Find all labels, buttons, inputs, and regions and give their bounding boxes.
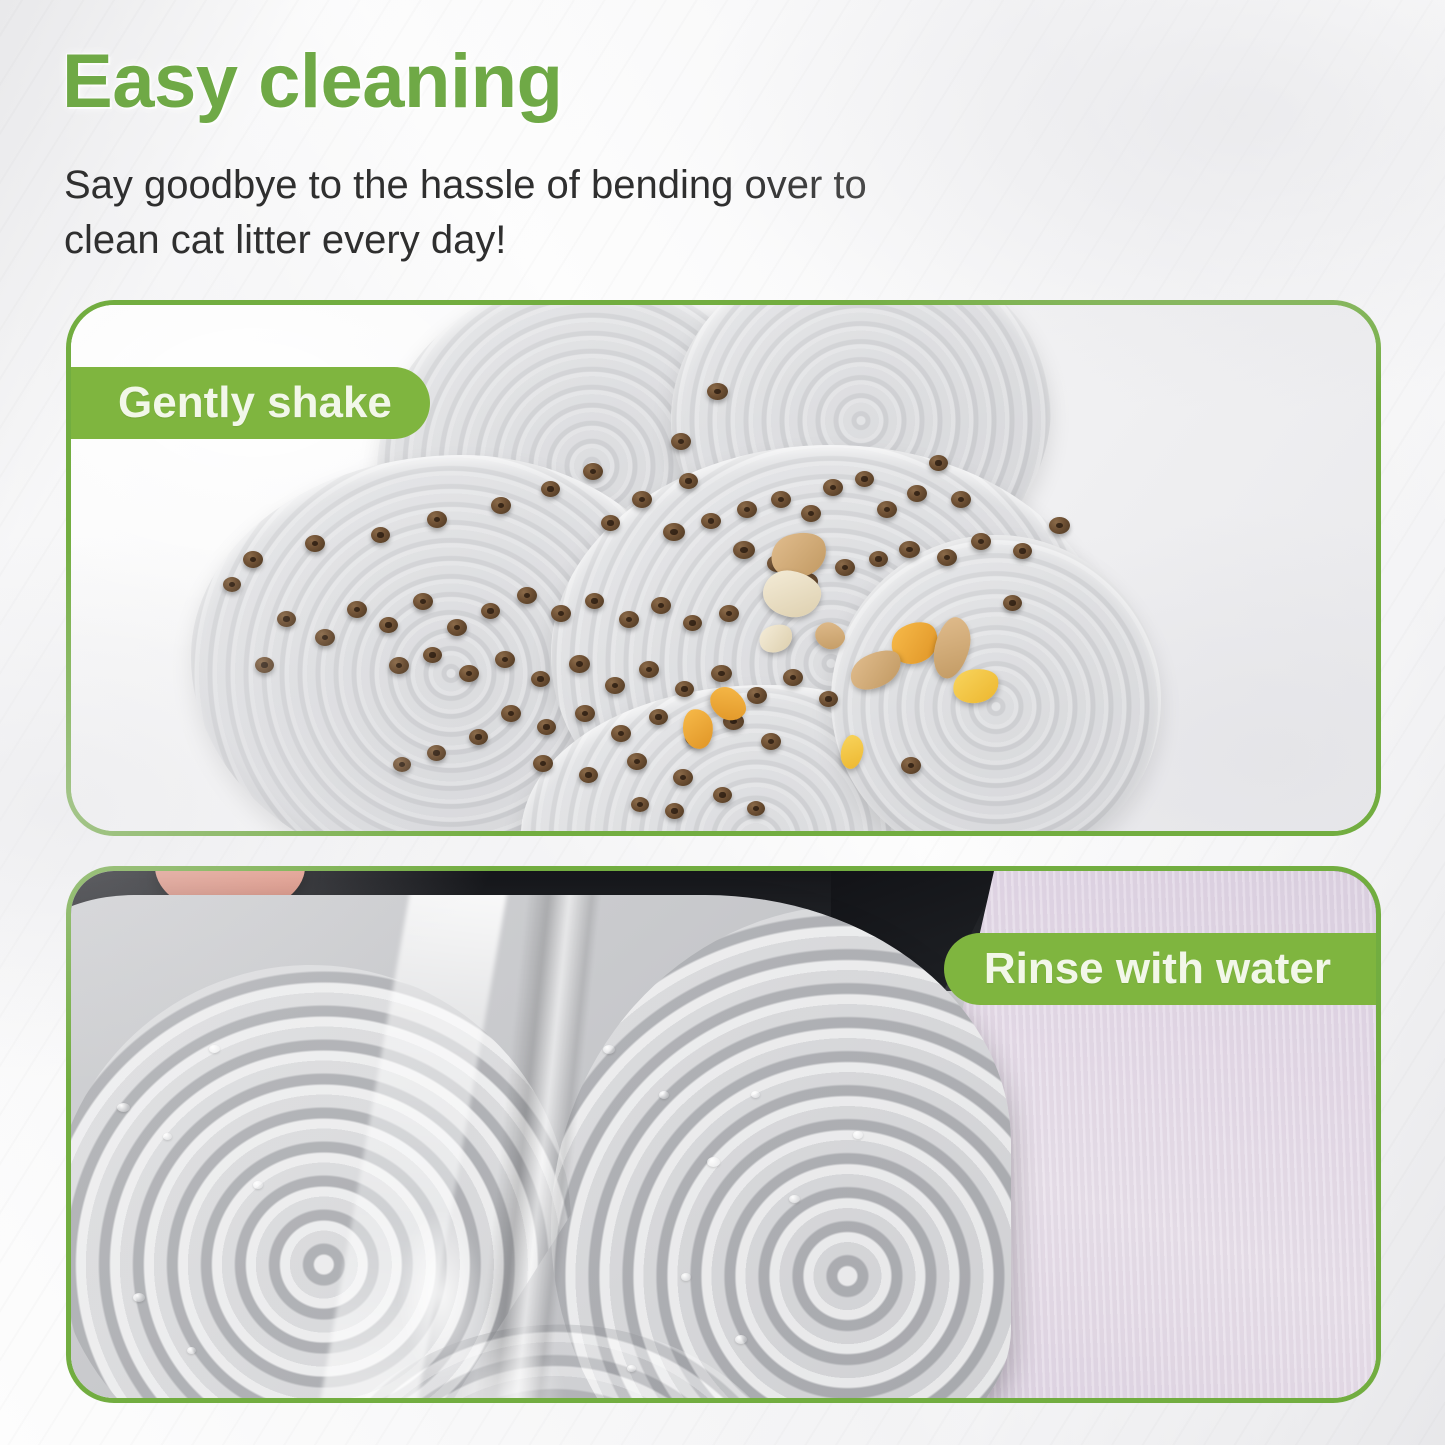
infographic-page: Easy cleaning Say goodbye to the hassle … (0, 0, 1445, 1445)
kibble (243, 551, 263, 568)
kibble (1049, 517, 1070, 534)
kibble (907, 485, 927, 502)
water-droplet (789, 1195, 800, 1203)
water-droplet (603, 1045, 615, 1054)
kibble (517, 587, 537, 604)
kibble (601, 515, 620, 531)
badge-gently-shake[interactable]: Gently shake (66, 367, 430, 439)
kibble (747, 801, 765, 816)
kibble (671, 433, 691, 450)
kibble (783, 669, 803, 686)
kibble (611, 725, 631, 742)
kibble (713, 787, 732, 803)
kibble (663, 523, 685, 541)
subtitle-line-1: Say goodbye to the hassle of bending ove… (64, 158, 1024, 213)
kibble (627, 753, 647, 770)
kibble (315, 629, 335, 646)
kibble (531, 671, 550, 687)
kibble (937, 549, 957, 566)
water-droplet (751, 1091, 760, 1098)
kibble (737, 501, 757, 518)
kibble (583, 463, 603, 480)
kibble (619, 611, 639, 628)
page-subtitle: Say goodbye to the hassle of bending ove… (64, 158, 1024, 268)
badge-rinse-with-water[interactable]: Rinse with water (944, 933, 1381, 1005)
kibble (701, 513, 721, 529)
kibble (1003, 595, 1022, 611)
water-droplet (707, 1157, 720, 1167)
kibble (835, 559, 855, 576)
kibble (639, 661, 659, 678)
kibble (711, 665, 732, 682)
kibble (569, 655, 590, 673)
kibble (579, 767, 598, 783)
mat-closeup (71, 895, 1011, 1398)
kibble (223, 577, 241, 592)
water-droplet (853, 1131, 863, 1139)
kibble (819, 691, 838, 707)
kibble (427, 745, 446, 761)
kibble (899, 541, 920, 558)
kibble (447, 619, 467, 636)
kibble (427, 511, 447, 528)
water-droplet (209, 1045, 220, 1053)
kibble (801, 505, 821, 522)
kibble (501, 705, 521, 722)
kibble (469, 729, 488, 745)
kibble (495, 651, 515, 668)
water-droplet (163, 1133, 172, 1140)
kibble (631, 797, 649, 812)
water-droplet (735, 1335, 747, 1344)
card-rinse-with-water: Rinse with water (66, 866, 1381, 1403)
kibble (675, 681, 694, 697)
kibble (255, 657, 274, 673)
kibble (632, 491, 652, 508)
kibble (929, 455, 948, 471)
kibble (347, 601, 367, 618)
kibble (869, 551, 888, 567)
water-droplet (187, 1347, 196, 1354)
kibble (761, 733, 781, 750)
kibble (649, 709, 668, 725)
kibble (481, 603, 500, 619)
kibble (855, 471, 874, 487)
kibble (305, 535, 325, 552)
kibble (491, 497, 511, 514)
kibble (719, 605, 739, 622)
page-title: Easy cleaning (62, 38, 562, 125)
kibble (533, 755, 553, 772)
kibble (823, 479, 843, 496)
kibble (651, 597, 671, 614)
kibble (575, 705, 595, 722)
water-droplet (627, 1365, 636, 1372)
kibble (665, 803, 684, 819)
kibble (971, 533, 991, 550)
kibble (877, 501, 897, 518)
kibble (707, 383, 728, 400)
kibble (673, 769, 693, 786)
kibble (551, 605, 571, 622)
kibble (423, 647, 442, 663)
kibble (389, 657, 409, 674)
water-droplet (681, 1273, 691, 1281)
kibble (771, 491, 791, 508)
kibble (585, 593, 604, 609)
kibble (951, 491, 971, 508)
kibble (371, 527, 390, 543)
water-droplet (659, 1091, 669, 1099)
kibble (605, 677, 625, 694)
kibble (459, 665, 479, 682)
kibble (537, 719, 556, 735)
kibble (1013, 543, 1032, 559)
kibble (541, 481, 560, 497)
kibble (277, 611, 296, 627)
kibble (747, 687, 767, 704)
kibble (379, 617, 398, 633)
water-droplet (133, 1293, 145, 1302)
water-splash (321, 1195, 621, 1398)
kibble (393, 757, 411, 772)
kibble (733, 541, 755, 559)
kibble (679, 473, 698, 489)
kibble (683, 615, 702, 631)
water-droplet (117, 1103, 130, 1112)
water-droplet (253, 1181, 263, 1189)
card-gently-shake: Gently shake (66, 300, 1381, 836)
subtitle-line-2: clean cat litter every day! (64, 213, 1024, 268)
kibble (901, 757, 921, 774)
kibble (413, 593, 433, 610)
